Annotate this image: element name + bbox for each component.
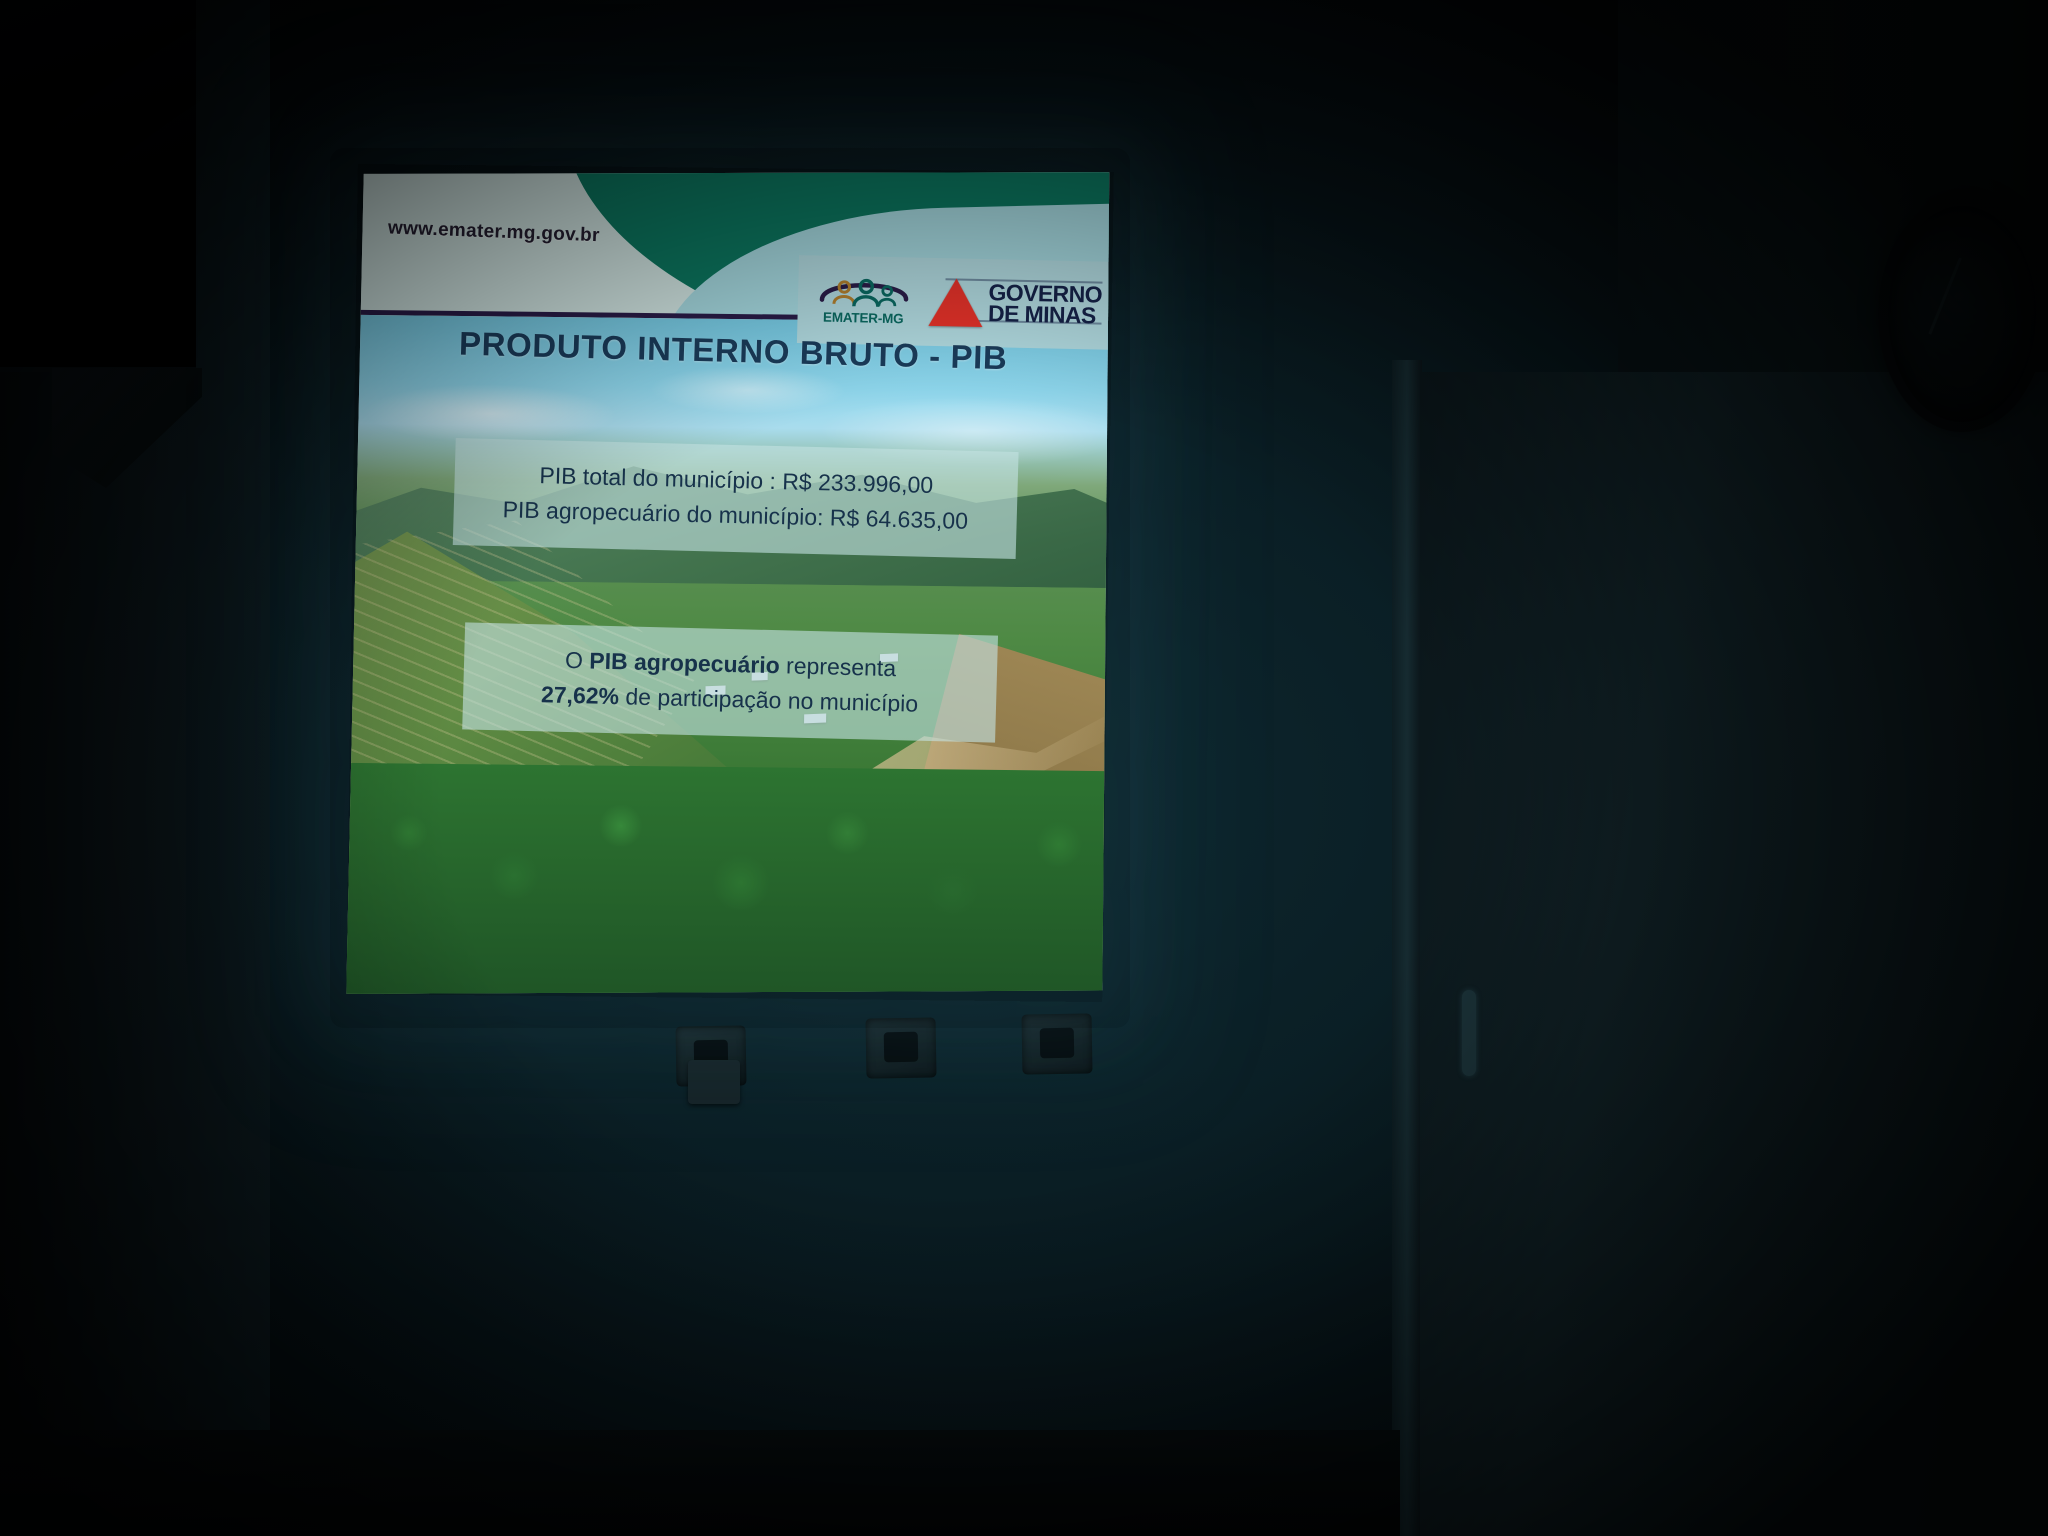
pib-values-box: PIB total do município : R$ 233.996,00 P… (453, 438, 1019, 559)
governo-logo-text: GOVERNO DE MINAS (988, 282, 1102, 327)
governo-de-minas-logo: GOVERNO DE MINAS (929, 278, 1103, 330)
wall-mounted-tv-panel (0, 0, 196, 372)
projected-slide: www.emater.mg.gov.br EMATER-MG (346, 164, 1114, 1002)
power-outlet[interactable] (1021, 1013, 1092, 1074)
door[interactable] (1420, 372, 2048, 1536)
power-plug[interactable] (688, 1060, 740, 1104)
tv-brand-logo (62, 378, 182, 392)
emater-website-url[interactable]: www.emater.mg.gov.br (387, 217, 600, 247)
governo-line2: DE MINAS (988, 303, 1102, 327)
power-outlet[interactable] (865, 1017, 936, 1078)
emater-logo: EMATER-MG (812, 274, 917, 327)
red-triangle-icon (929, 278, 984, 327)
three-people-icon (816, 274, 913, 310)
share-percent-value: 27,62% (541, 681, 620, 709)
door-frame (1392, 360, 1422, 1536)
pib-share-box: O PIB agropecuário representa 27,62% de … (463, 623, 999, 743)
door-handle[interactable] (1462, 990, 1476, 1076)
wall-baseboard (0, 1430, 1400, 1536)
emater-logo-text: EMATER-MG (823, 310, 904, 327)
share-percent-suffix: de participação no município (619, 683, 919, 716)
slide-canvas: www.emater.mg.gov.br EMATER-MG (346, 164, 1114, 1002)
share-suffix: representa (780, 653, 897, 682)
forest-canopy (346, 763, 1105, 1002)
share-bold-term: PIB agropecuário (589, 648, 780, 679)
share-prefix: O (565, 647, 590, 674)
wall-clock-icon (1878, 196, 2046, 432)
